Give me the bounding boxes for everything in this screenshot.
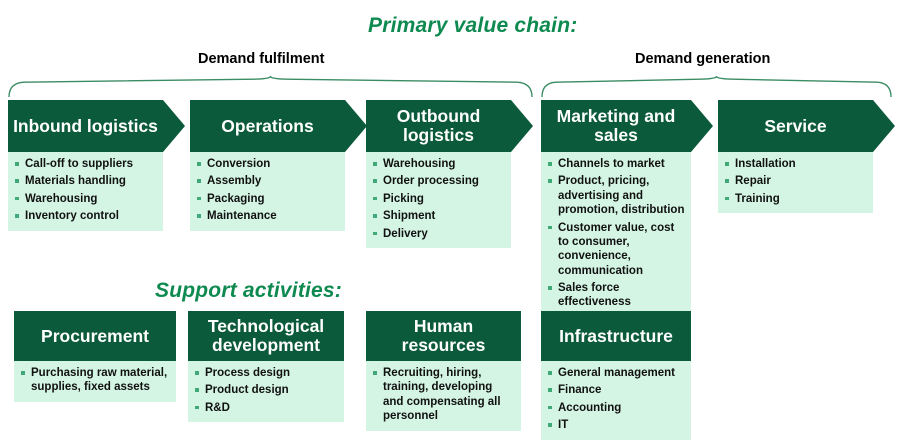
list-item: Training	[724, 192, 867, 206]
chevron-header-marketing-and-sales[interactable]: Marketing and sales	[541, 100, 691, 152]
support-activities-title: Support activities:	[155, 279, 342, 303]
bullet-list: Recruiting, hiring, training, developing…	[372, 366, 515, 424]
header-technological-development[interactable]: Technological development	[188, 311, 344, 361]
demand-fulfilment-label: Demand fulfilment	[198, 51, 324, 67]
bullet-panel-inbound-logistics: Call-off to suppliers Materials handling…	[8, 152, 163, 231]
chain-column-outbound-logistics[interactable]: Outbound logistics Warehousing Order pro…	[366, 100, 511, 248]
chain-column-marketing-and-sales[interactable]: Marketing and sales Channels to market P…	[541, 100, 691, 317]
demand-generation-brace	[541, 76, 892, 98]
header-label: Human resources	[370, 317, 517, 355]
list-item: Conversion	[196, 157, 339, 171]
header-infrastructure[interactable]: Infrastructure	[541, 311, 691, 361]
list-item: Assembly	[196, 174, 339, 188]
chevron-header-service[interactable]: Service	[718, 100, 873, 152]
bullet-panel-marketing-and-sales: Channels to market Product, pricing, adv…	[541, 152, 691, 317]
bullet-panel-outbound-logistics: Warehousing Order processing Picking Shi…	[366, 152, 511, 248]
chevron-header-inbound-logistics[interactable]: Inbound logistics	[8, 100, 163, 152]
list-item: Shipment	[372, 209, 505, 223]
chevron-label: Service	[764, 117, 826, 136]
bullet-list: Call-off to suppliers Materials handling…	[14, 157, 157, 224]
list-item: Finance	[547, 383, 685, 397]
bullet-panel-service: Installation Repair Training	[718, 152, 873, 213]
primary-value-chain-title: Primary value chain:	[368, 14, 577, 38]
bullet-panel-operations: Conversion Assembly Packaging Maintenanc…	[190, 152, 345, 231]
support-column-human-resources[interactable]: Human resources Recruiting, hiring, trai…	[366, 311, 521, 431]
list-item: Recruiting, hiring, training, developing…	[372, 366, 515, 424]
support-column-infrastructure[interactable]: Infrastructure General management Financ…	[541, 311, 691, 440]
list-item: General management	[547, 366, 685, 380]
bullet-panel-technological-development: Process design Product design R&D	[188, 361, 344, 422]
list-item: Picking	[372, 192, 505, 206]
list-item: Repair	[724, 174, 867, 188]
list-item: Accounting	[547, 401, 685, 415]
header-label: Technological development	[192, 317, 340, 355]
list-item: Product, pricing, advertising and promot…	[547, 174, 685, 217]
chevron-label: Marketing and sales	[545, 107, 687, 145]
list-item: Call-off to suppliers	[14, 157, 157, 171]
list-item: Process design	[194, 366, 338, 380]
header-human-resources[interactable]: Human resources	[366, 311, 521, 361]
demand-fulfilment-brace	[8, 76, 533, 98]
bullet-list: Conversion Assembly Packaging Maintenanc…	[196, 157, 339, 224]
header-procurement[interactable]: Procurement	[14, 311, 176, 361]
bullet-list: General management Finance Accounting IT	[547, 366, 685, 433]
header-label: Procurement	[41, 327, 149, 346]
chain-column-operations[interactable]: Operations Conversion Assembly Packaging…	[190, 100, 345, 231]
chevron-label: Operations	[221, 117, 313, 136]
list-item: R&D	[194, 401, 338, 415]
chevron-header-operations[interactable]: Operations	[190, 100, 345, 152]
chain-column-inbound-logistics[interactable]: Inbound logistics Call-off to suppliers …	[8, 100, 163, 231]
header-label: Infrastructure	[559, 327, 673, 346]
bullet-panel-procurement: Purchasing raw material, supplies, fixed…	[14, 361, 176, 402]
bullet-list: Purchasing raw material, supplies, fixed…	[20, 366, 170, 395]
bullet-list: Installation Repair Training	[724, 157, 867, 206]
chevron-label: Inbound logistics	[13, 117, 158, 136]
list-item: Delivery	[372, 227, 505, 241]
list-item: Warehousing	[14, 192, 157, 206]
bullet-panel-infrastructure: General management Finance Accounting IT	[541, 361, 691, 440]
list-item: Inventory control	[14, 209, 157, 223]
value-chain-diagram: Primary value chain: Support activities:…	[0, 0, 900, 444]
list-item: Sales force effectiveness	[547, 281, 685, 310]
list-item: Order processing	[372, 174, 505, 188]
demand-generation-label: Demand generation	[635, 51, 770, 67]
list-item: Installation	[724, 157, 867, 171]
chain-column-service[interactable]: Service Installation Repair Training	[718, 100, 873, 213]
list-item: Materials handling	[14, 174, 157, 188]
list-item: Customer value, cost to consumer, conven…	[547, 221, 685, 279]
bullet-panel-human-resources: Recruiting, hiring, training, developing…	[366, 361, 521, 431]
chevron-label: Outbound logistics	[370, 107, 507, 145]
list-item: Purchasing raw material, supplies, fixed…	[20, 366, 170, 395]
list-item: Channels to market	[547, 157, 685, 171]
support-column-technological-development[interactable]: Technological development Process design…	[188, 311, 344, 422]
bullet-list: Channels to market Product, pricing, adv…	[547, 157, 685, 310]
list-item: IT	[547, 418, 685, 432]
bullet-list: Process design Product design R&D	[194, 366, 338, 415]
list-item: Product design	[194, 383, 338, 397]
chevron-header-outbound-logistics[interactable]: Outbound logistics	[366, 100, 511, 152]
support-column-procurement[interactable]: Procurement Purchasing raw material, sup…	[14, 311, 176, 402]
list-item: Maintenance	[196, 209, 339, 223]
bullet-list: Warehousing Order processing Picking Shi…	[372, 157, 505, 241]
list-item: Packaging	[196, 192, 339, 206]
list-item: Warehousing	[372, 157, 505, 171]
